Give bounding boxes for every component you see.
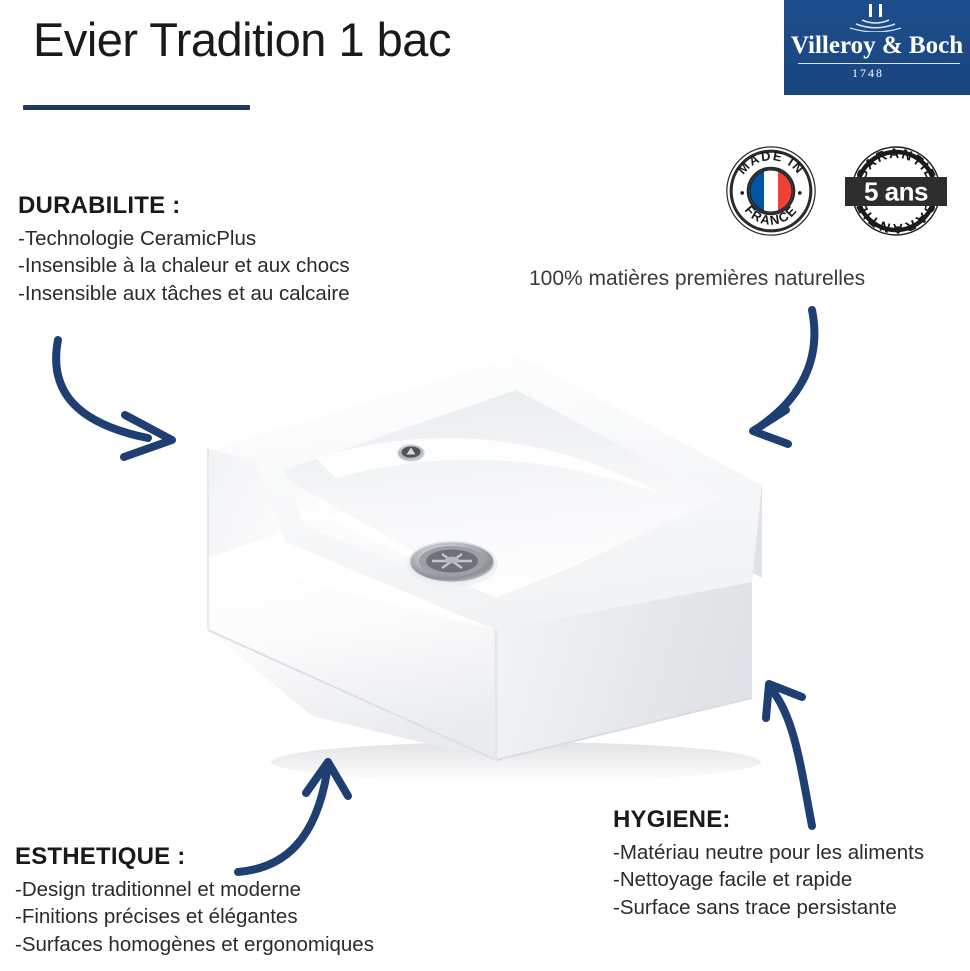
- brand-name: Villeroy & Boch: [784, 32, 970, 60]
- product-image-sink: [196, 330, 816, 790]
- feature-list-durabilite: -Technologie CeramicPlus -Insensible à l…: [18, 225, 350, 307]
- brand-underline: [798, 63, 960, 64]
- feature-item: -Nettoyage facile et rapide: [613, 866, 943, 893]
- feature-heading-hygiene: HYGIENE:: [613, 806, 943, 834]
- feature-block-durabilite: DURABILITE : -Technologie CeramicPlus -I…: [18, 192, 350, 307]
- natural-materials-label: 100% matières premières naturelles: [529, 267, 865, 291]
- infographic-page: Evier Tradition 1 bac Villeroy & Boch 17…: [0, 0, 970, 971]
- feature-item: -Technologie CeramicPlus: [18, 225, 350, 252]
- brand-logo: Villeroy & Boch 1748: [784, 0, 970, 95]
- feature-list-hygiene: -Matériau neutre pour les aliments -Nett…: [613, 839, 943, 921]
- feature-list-esthetique: -Design traditionnel et moderne -Finitio…: [15, 876, 374, 958]
- arrow-durabilite: [56, 340, 172, 457]
- made-in-france-badge: MADE IN FRANCE: [723, 143, 819, 239]
- garantie-badge: GARANTIE GARANTIE 5 ans: [843, 141, 949, 241]
- feature-item: -Design traditionnel et moderne: [15, 876, 374, 903]
- feature-item: -Surfaces homogènes et ergonomiques: [15, 931, 374, 958]
- villeroy-boch-crest-icon: [784, 4, 970, 32]
- feature-heading-durabilite: DURABILITE :: [18, 192, 350, 220]
- feature-item: -Finitions précises et élégantes: [15, 903, 374, 930]
- feature-item: -Surface sans trace persistante: [613, 894, 943, 921]
- brand-founded-year: 1748: [784, 66, 952, 81]
- page-title: Evier Tradition 1 bac: [33, 14, 451, 66]
- feature-block-hygiene: HYGIENE: -Matériau neutre pour les alime…: [613, 806, 943, 921]
- title-accent-rule: [23, 105, 250, 110]
- garantie-5-ans-icon: GARANTIE GARANTIE 5 ans: [843, 141, 949, 241]
- feature-item: -Insensible aux tâches et au calcaire: [18, 280, 350, 307]
- overflow-hole-icon: [398, 445, 424, 461]
- feature-block-esthetique: ESTHETIQUE : -Design traditionnel et mod…: [15, 843, 374, 958]
- svg-text:5 ans: 5 ans: [864, 177, 928, 207]
- feature-item: -Insensible à la chaleur et aux chocs: [18, 252, 350, 279]
- made-in-france-icon: MADE IN FRANCE: [723, 143, 819, 239]
- feature-item: -Matériau neutre pour les aliments: [613, 839, 943, 866]
- feature-heading-esthetique: ESTHETIQUE :: [15, 843, 374, 871]
- drain-strainer-icon: [406, 541, 498, 587]
